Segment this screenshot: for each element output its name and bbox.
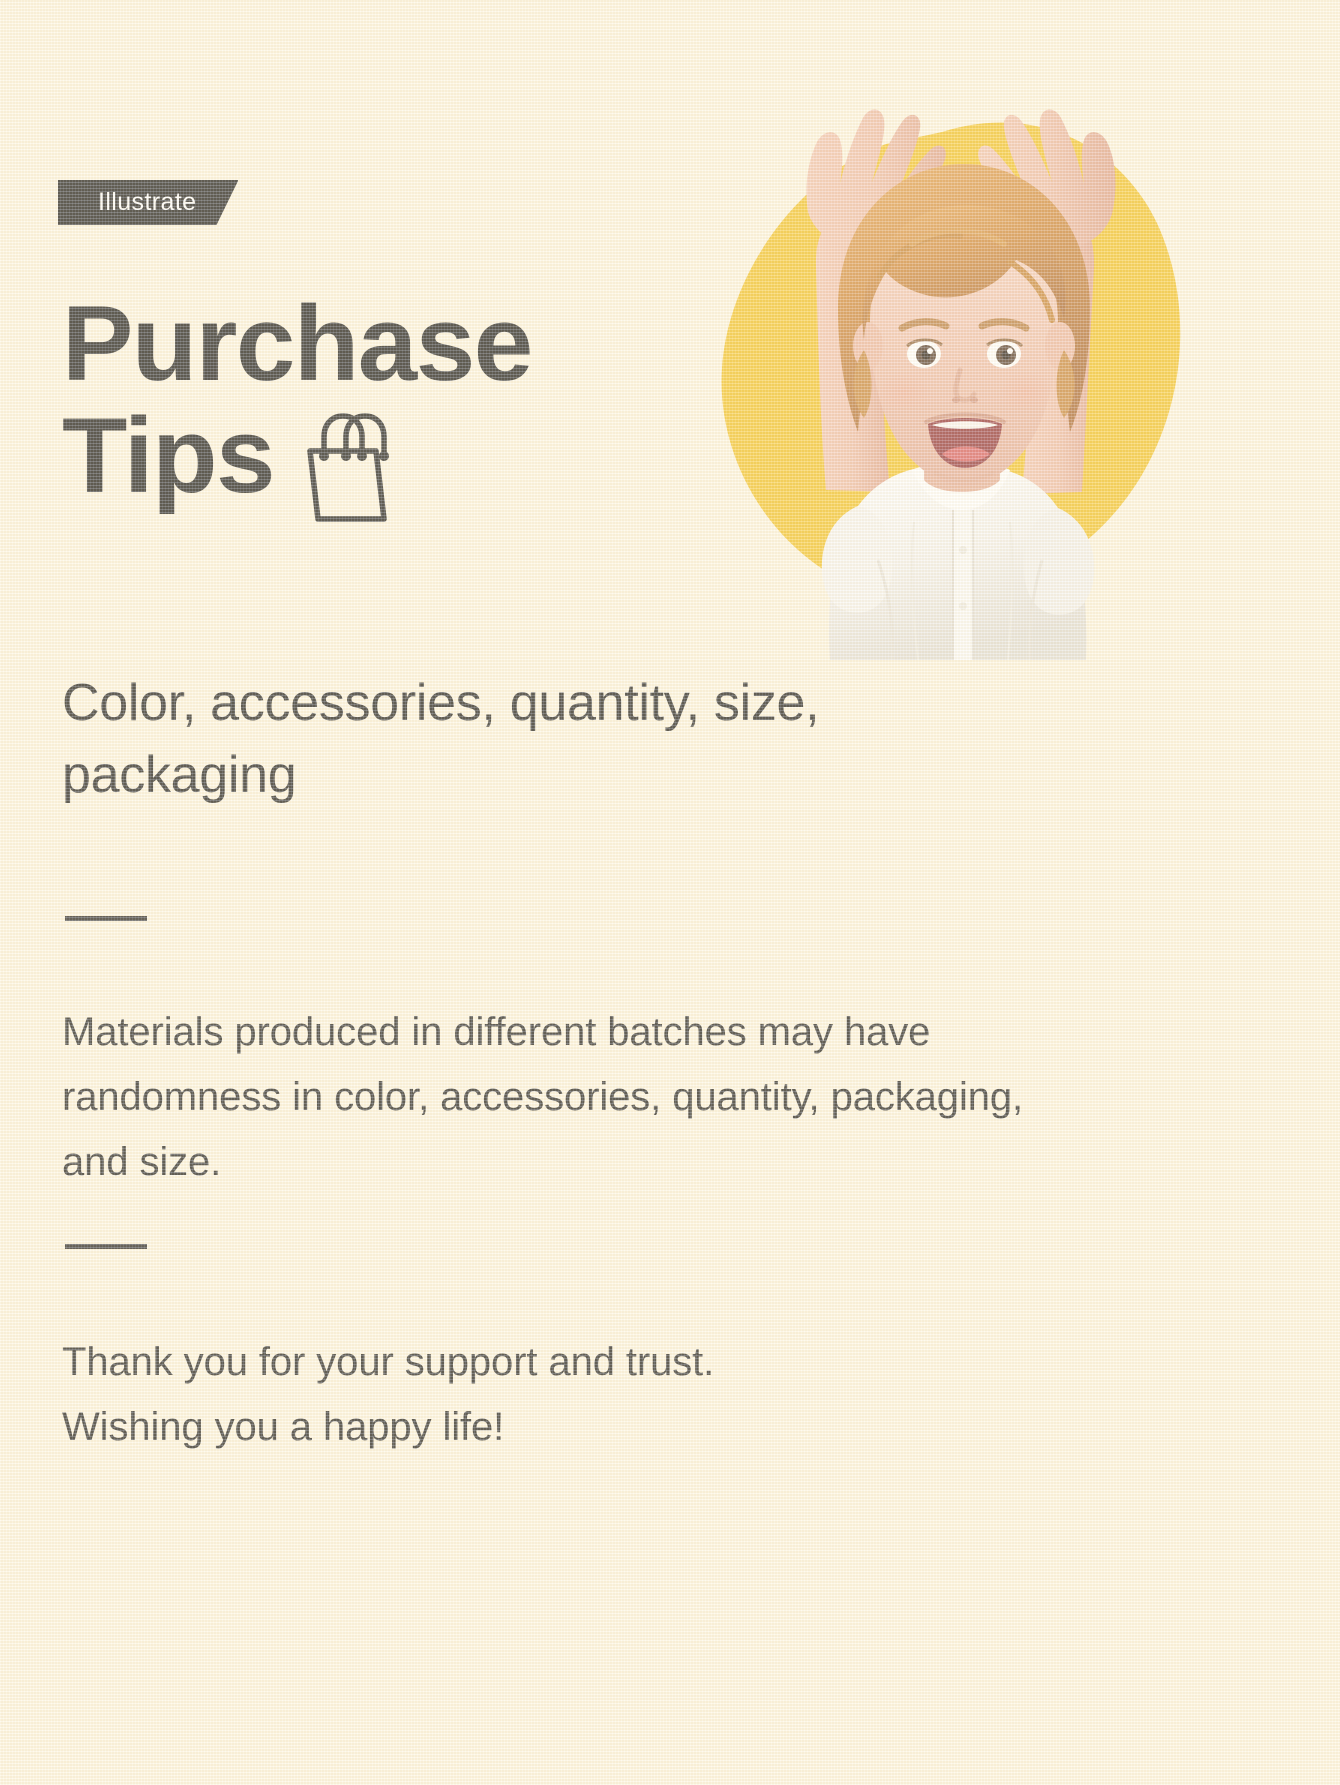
illustrate-badge: Illustrate: [58, 180, 238, 225]
page-title: Purchase Tips: [62, 286, 532, 513]
closing-line-1: Thank you for your support and trust.: [62, 1330, 1072, 1395]
divider-bottom: [65, 1244, 147, 1249]
body-paragraph: Materials produced in different batches …: [62, 1000, 1072, 1194]
divider-top: [65, 916, 147, 921]
title-line-1: Purchase: [62, 286, 532, 402]
title-text-purchase: Purchase: [62, 286, 532, 402]
title-line-2: Tips: [62, 398, 532, 514]
badge-shape: Illustrate: [58, 180, 238, 225]
purchase-tips-poster: Illustrate Purchase Tips: [0, 0, 1340, 1785]
hero-image: [612, 40, 1232, 660]
closing-line-2: Wishing you a happy life!: [62, 1395, 1072, 1460]
title-text-tips: Tips: [62, 398, 274, 514]
subtitle-text: Color, accessories, quantity, size, pack…: [62, 668, 1022, 812]
badge-label: Illustrate: [98, 190, 196, 215]
closing-paragraph: Thank you for your support and trust. Wi…: [62, 1330, 1072, 1460]
shopping-bag-icon: [298, 411, 394, 523]
